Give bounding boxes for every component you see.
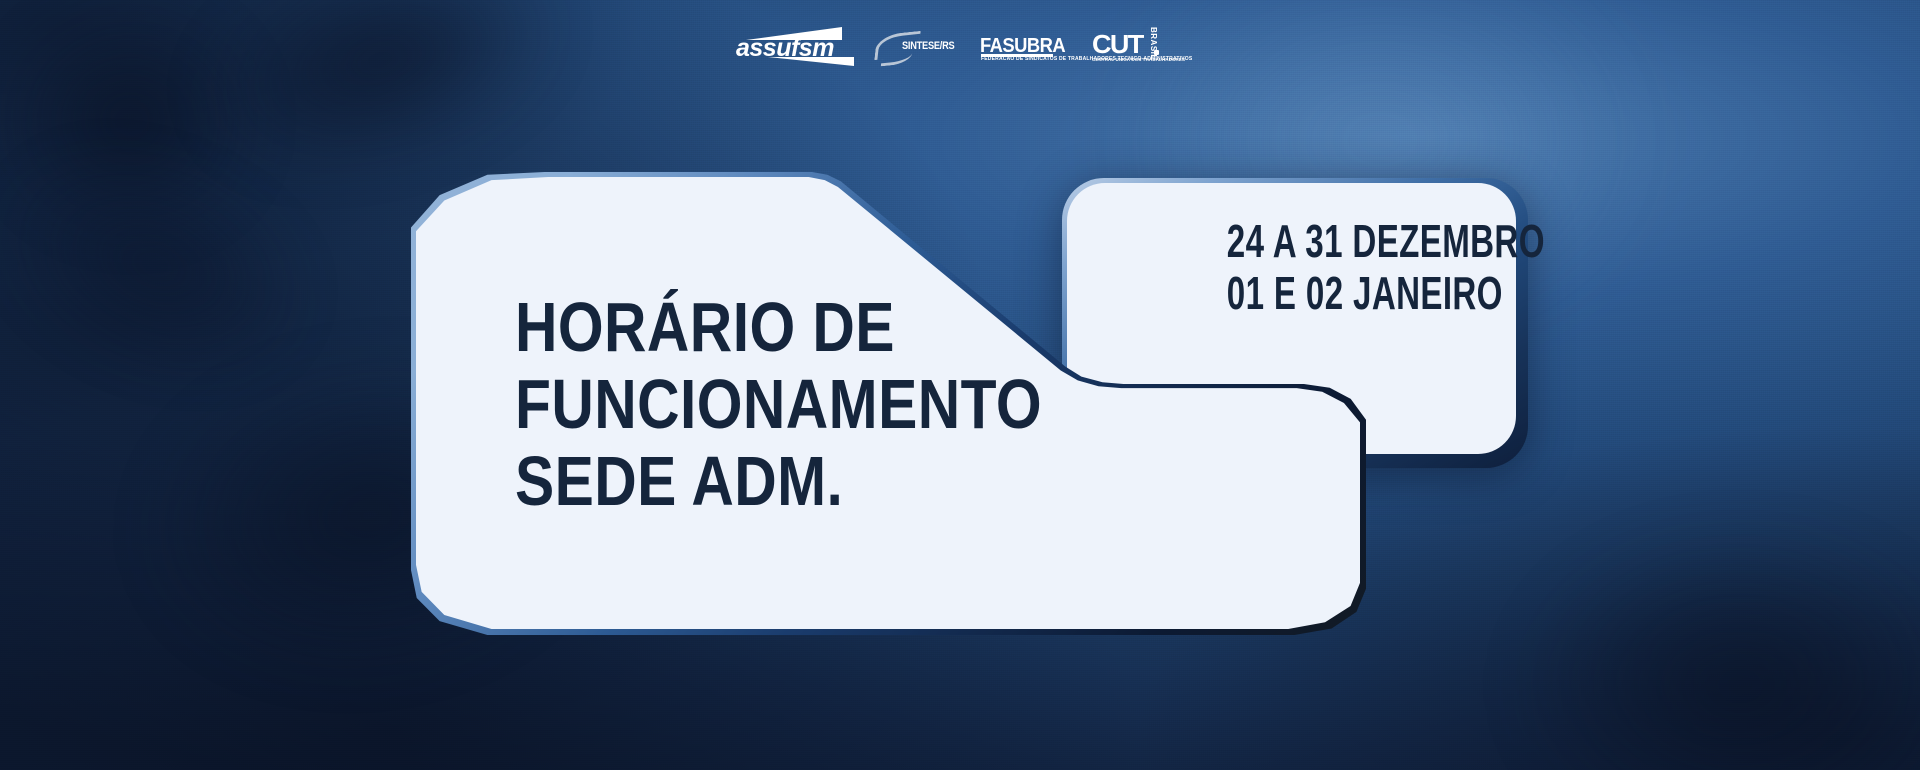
title-line-1: HORÁRIO DE	[515, 289, 1042, 366]
fasubra-logo: FASUBRA FEDERACAO DE SINDICATOS DE TRABA…	[980, 29, 1070, 63]
assufsm-logo: assufsm	[736, 26, 854, 66]
cut-tagline: CENTRAL UNICA DOS TRABALHADORES	[1092, 57, 1180, 62]
title-line-2: FUNCIONAMENTO	[515, 366, 1042, 443]
fasubra-tagline: FEDERACAO DE SINDICATOS DE TRABALHADORES…	[981, 56, 1067, 62]
title-line-3: SEDE ADM.	[515, 443, 1042, 520]
cut-brasil-vertical-text: BRASIL	[1149, 27, 1158, 60]
main-card: HORÁRIO DE FUNCIONAMENTO SEDE ADM.	[411, 172, 1366, 635]
banner-canvas: assufsm SINTESE/RS FASUBRA FEDERACAO DE …	[0, 0, 1920, 770]
card-layer: 24 A 31 DEZEMBRO 01 E 02 JANEIRO HORÁRIO…	[0, 0, 1920, 770]
cut-logo: CUT BRASIL CENTRAL UNICA DOS TRABALHADOR…	[1092, 28, 1184, 64]
sintese-wordmark: SINTESE/RS	[902, 40, 954, 52]
sintese-rs-logo: SINTESE/RS	[876, 29, 958, 63]
cut-wordmark: CUT	[1092, 31, 1143, 57]
main-card-title: HORÁRIO DE FUNCIONAMENTO SEDE ADM.	[515, 289, 1042, 520]
logo-bar: assufsm SINTESE/RS FASUBRA FEDERACAO DE …	[0, 25, 1920, 67]
